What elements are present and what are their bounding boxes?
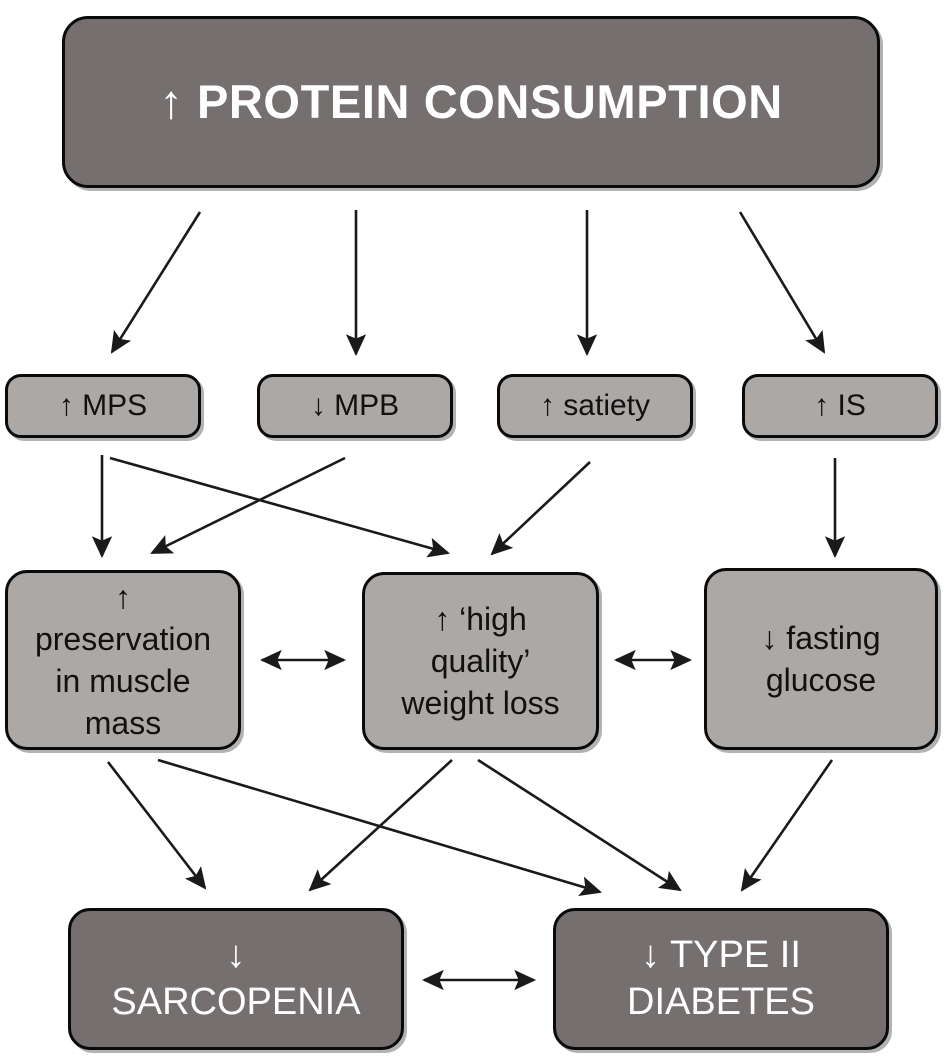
node-label: ↑ IS — [808, 388, 872, 423]
edge-muscle-diabetes — [158, 760, 600, 892]
edge-muscle-sarcopenia — [108, 762, 205, 888]
edge-title-mps — [112, 212, 200, 352]
edge-satiety-weight — [492, 462, 590, 554]
edge-mps-weight — [110, 458, 448, 553]
node-label: ↑ PROTEIN CONSUMPTION — [153, 74, 789, 129]
node-mps[interactable]: ↑ MPS — [5, 374, 201, 438]
edge-glucose-diabetes — [742, 760, 832, 890]
node-label: ↑ satiety — [534, 388, 656, 423]
edge-title-is — [740, 212, 824, 352]
node-weight-loss[interactable]: ↑ ‘high quality’ weight loss — [362, 572, 599, 750]
node-label: ↑ ‘high quality’ weight loss — [395, 598, 565, 725]
edge-weight-diabetes — [478, 760, 680, 890]
node-is[interactable]: ↑ IS — [742, 374, 938, 438]
node-fasting-glucose[interactable]: ↓ fasting glucose — [704, 568, 938, 750]
node-protein-consumption[interactable]: ↑ PROTEIN CONSUMPTION — [62, 16, 880, 188]
node-label: ↓ fasting glucose — [755, 617, 886, 701]
node-type-ii-diabetes[interactable]: ↓ TYPE II DIABETES — [553, 908, 889, 1050]
edge-mpb-muscle — [152, 458, 345, 553]
node-muscle-mass[interactable]: ↑ preservation in muscle mass — [5, 570, 241, 750]
node-label: ↑ preservation in muscle mass — [29, 576, 217, 745]
node-label: ↓ SARCOPENIA — [105, 932, 366, 1027]
node-sarcopenia[interactable]: ↓ SARCOPENIA — [68, 908, 404, 1050]
node-mpb[interactable]: ↓ MPB — [257, 374, 453, 438]
node-satiety[interactable]: ↑ satiety — [497, 374, 693, 438]
edge-weight-sarcopenia — [310, 760, 452, 890]
node-label: ↑ MPS — [53, 388, 153, 423]
node-label: ↓ MPB — [305, 388, 405, 423]
diagram-canvas: ↑ PROTEIN CONSUMPTION ↑ MPS ↓ MPB ↑ sati… — [0, 0, 945, 1061]
node-label: ↓ TYPE II DIABETES — [621, 932, 821, 1027]
